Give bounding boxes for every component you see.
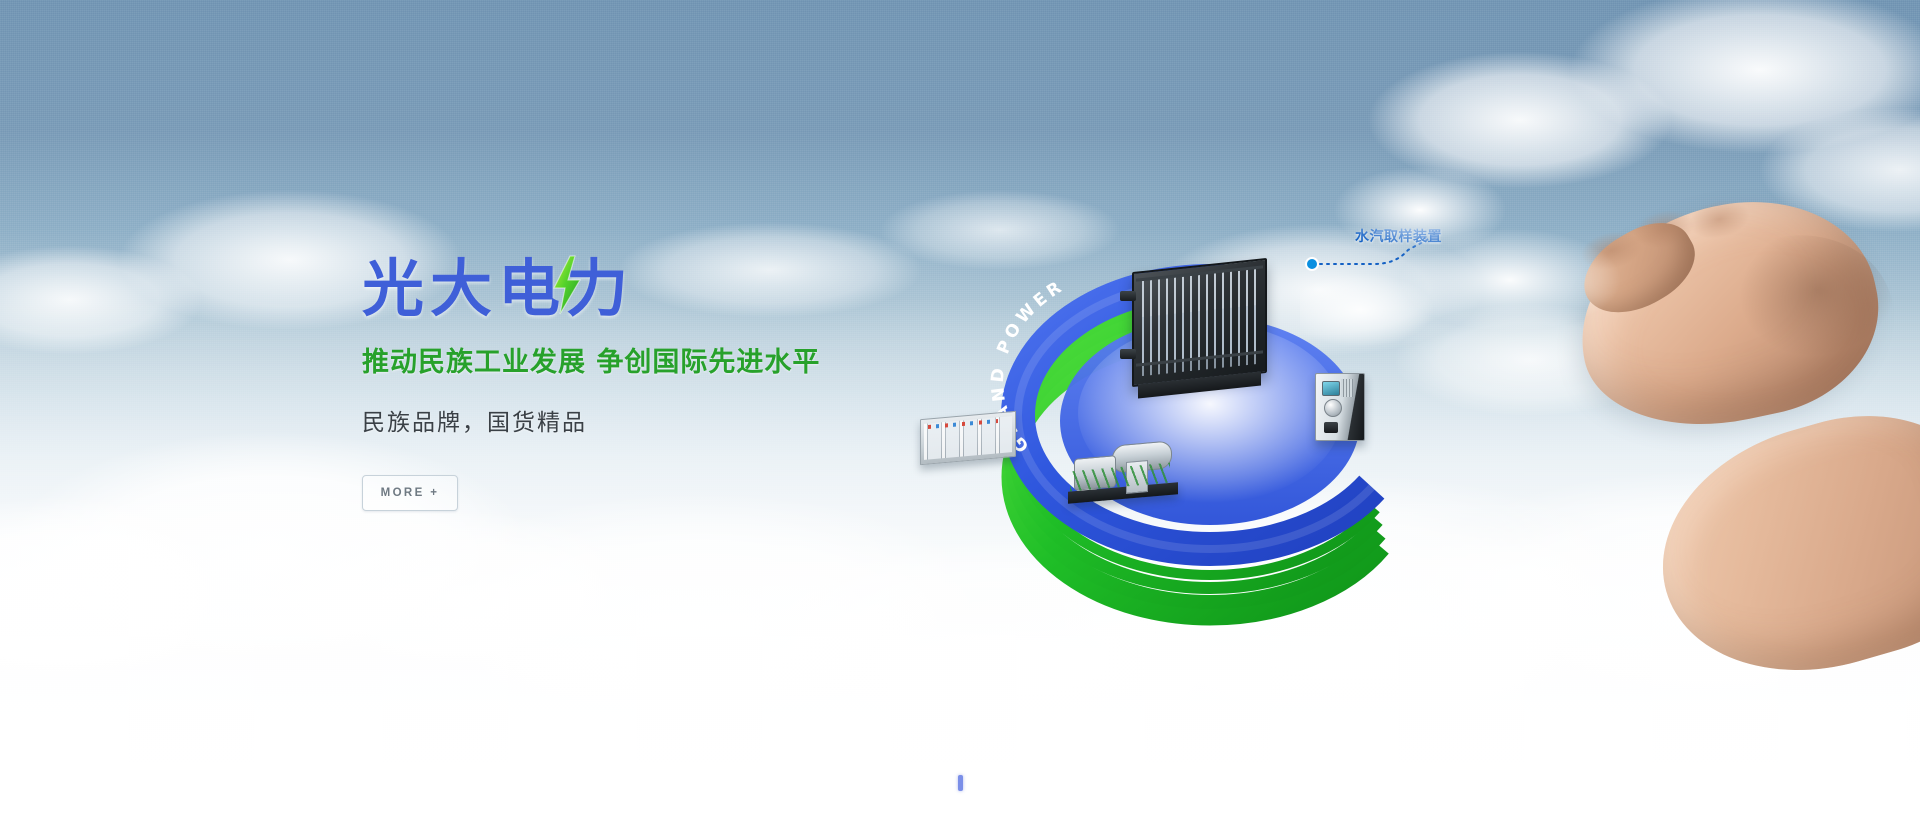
equipment-water-vapour-sampling-rack: [1132, 265, 1267, 380]
callout-dot: [1306, 258, 1318, 270]
banner-slogan: 推动民族工业发展 争创国际先进水平: [362, 340, 922, 379]
cloud-top-right: [1340, 0, 1920, 260]
callout-label: 水汽取样装置: [1355, 226, 1442, 246]
banner-copy: 光大电力 推动民族工业发展 争创国际先进水平 民族品牌，国货精品 MORE +: [362, 256, 922, 511]
brand-title-row: 光大电力: [362, 256, 634, 322]
hero-banner: 光大电力 推动民族工业发展 争创国际先进水平 民族品牌，国货精品 MORE +: [0, 0, 1920, 817]
equipment-online-analyzer-cabinet: [1315, 373, 1365, 441]
hand-grasping-clouds-image: [1510, 196, 1920, 626]
carousel-pagination[interactable]: [0, 775, 1920, 791]
banner-tagline: 民族品牌，国货精品: [362, 403, 922, 437]
carousel-dot-1[interactable]: [958, 775, 963, 791]
equipment-water-treatment-skid: [1068, 437, 1178, 499]
page-title: 光大电力: [362, 256, 634, 322]
equipment-control-cabinet: [920, 415, 1016, 461]
more-button[interactable]: MORE +: [362, 475, 458, 511]
